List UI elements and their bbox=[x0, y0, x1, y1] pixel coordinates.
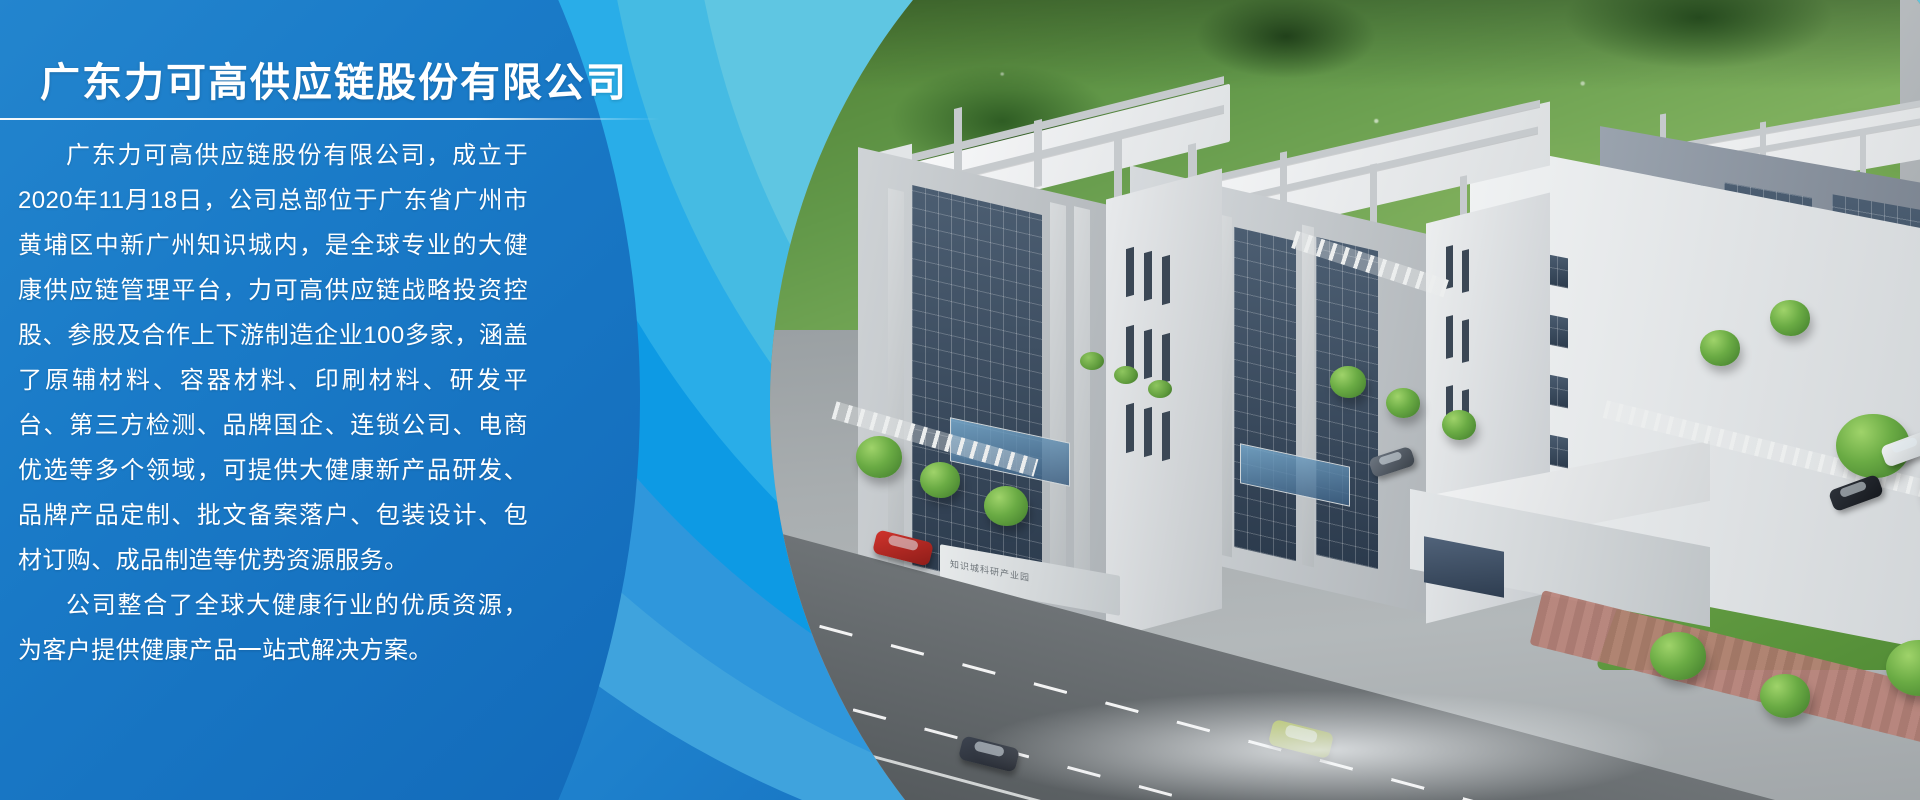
facility-photo: 知识城科研产业园 bbox=[770, 0, 1920, 800]
title-divider bbox=[0, 118, 660, 120]
facade-pier bbox=[1050, 202, 1066, 606]
facade-pier bbox=[1074, 206, 1090, 610]
promo-banner: 知识城科研产业园 bbox=[0, 0, 1920, 800]
tree bbox=[1770, 300, 1810, 336]
roof-truss bbox=[1034, 119, 1042, 187]
foreground-haze bbox=[970, 690, 1670, 800]
about-text: 广东力可高供应链股份有限公司，成立于2020年11月18日，公司总部位于广东省广… bbox=[18, 133, 528, 673]
about-paragraph-2: 公司整合了全球大健康行业的优质资源，为客户提供健康产品一站式解决方案。 bbox=[18, 583, 528, 673]
tree bbox=[1330, 366, 1366, 398]
wall-slit bbox=[1126, 247, 1134, 297]
window-band bbox=[1234, 227, 1296, 561]
window-band bbox=[1316, 237, 1378, 569]
about-paragraph-1: 广东力可高供应链股份有限公司，成立于2020年11月18日，公司总部位于广东省广… bbox=[18, 133, 528, 583]
shrub bbox=[1080, 352, 1104, 370]
wall-slit bbox=[1162, 255, 1170, 305]
facility-photo-content: 知识城科研产业园 bbox=[770, 0, 1920, 800]
roof-truss bbox=[954, 107, 962, 175]
tree bbox=[1442, 410, 1476, 440]
tree bbox=[920, 462, 960, 498]
wall-slit bbox=[1144, 251, 1152, 301]
wall-slit bbox=[1162, 411, 1170, 461]
tree bbox=[1386, 388, 1420, 418]
facade-pier bbox=[1302, 225, 1314, 568]
roof-truss bbox=[1370, 163, 1377, 227]
wall-slit bbox=[1162, 333, 1170, 383]
wall-slit bbox=[1446, 315, 1453, 359]
facade-pier bbox=[888, 188, 904, 592]
wall-slit bbox=[1144, 329, 1152, 379]
curtain-wall-glass bbox=[912, 185, 1042, 595]
tree bbox=[856, 436, 902, 478]
wall-slit bbox=[1462, 319, 1469, 363]
roof-truss bbox=[1114, 131, 1122, 199]
tree bbox=[1700, 330, 1740, 366]
shrub bbox=[1114, 366, 1138, 384]
tree bbox=[1760, 674, 1810, 718]
tree bbox=[984, 486, 1028, 526]
photo-top-shade bbox=[770, 0, 1920, 90]
text-panel: 广东力可高供应链股份有限公司 广东力可高供应链股份有限公司，成立于2020年11… bbox=[0, 0, 700, 800]
wall-slit bbox=[1144, 407, 1152, 457]
site-sign-text: 知识城科研产业园 bbox=[950, 557, 1030, 584]
building-side-wall bbox=[1106, 168, 1222, 639]
wall-slit bbox=[1126, 403, 1134, 453]
page-title: 广东力可高供应链股份有限公司 bbox=[40, 50, 628, 108]
shrub bbox=[1148, 380, 1172, 398]
tree bbox=[1650, 632, 1706, 680]
wall-slit bbox=[1462, 249, 1469, 293]
